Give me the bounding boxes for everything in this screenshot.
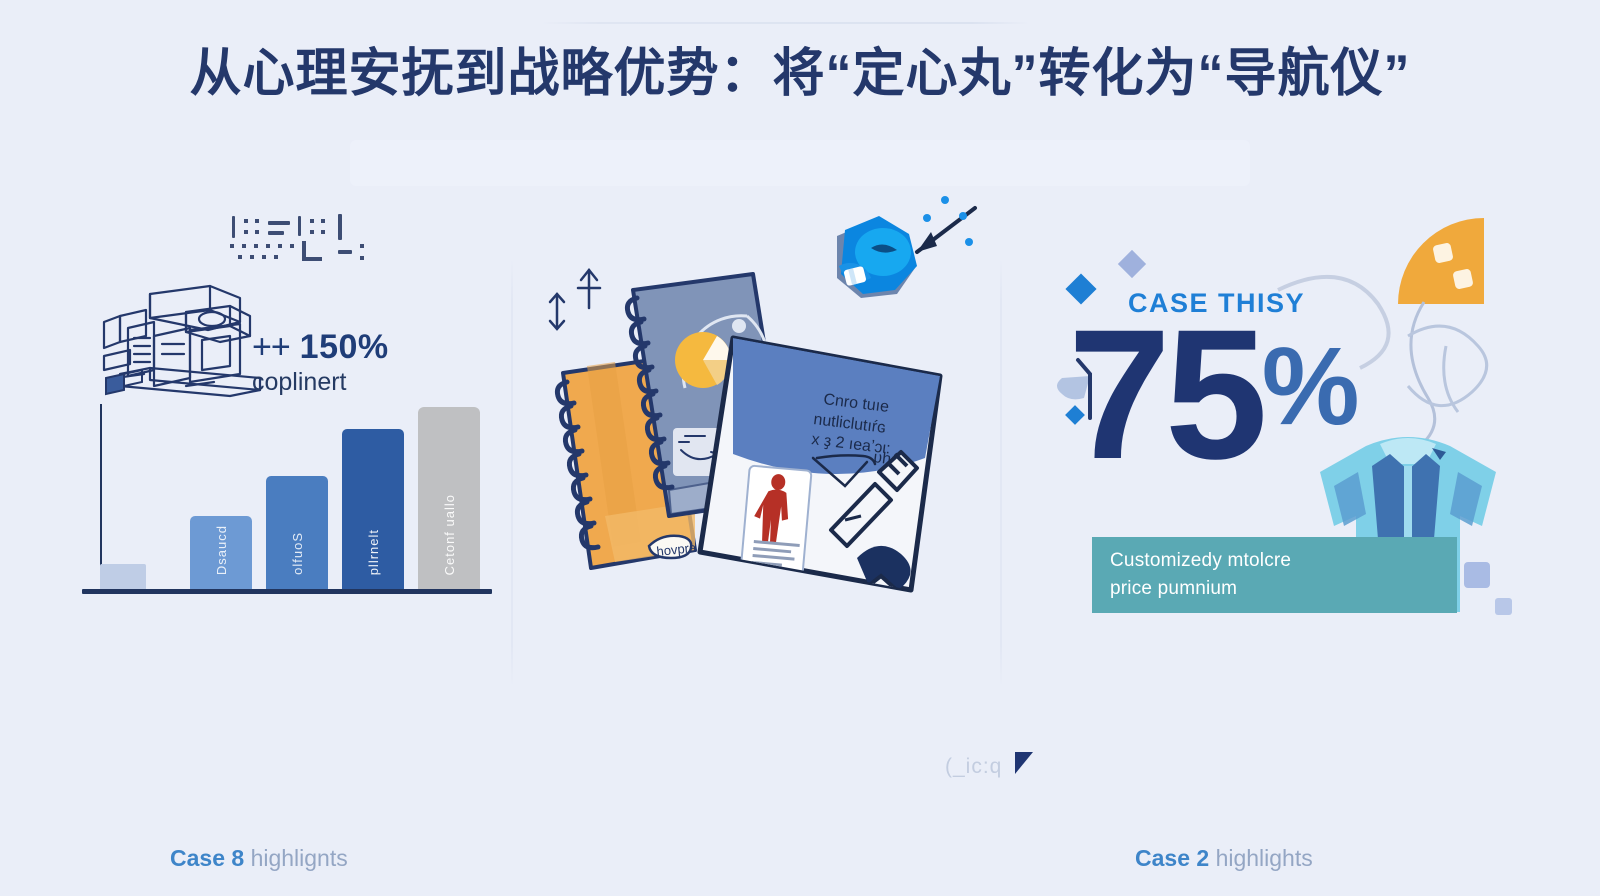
svg-text:hovpra: hovpra	[656, 540, 698, 559]
column-case-2: hovpra	[545, 190, 995, 620]
decor-square-large	[1464, 562, 1490, 588]
caption-2-muted: highlights	[1216, 845, 1313, 871]
notebooks-documents-icon: hovpra	[545, 190, 995, 620]
top-hairline	[540, 22, 1030, 24]
case-1-stat-value: ++ 150%	[252, 330, 442, 364]
chart-bar-1	[100, 564, 146, 589]
case-3-banner: Customizedy mtolcre price pumnium	[1092, 537, 1457, 613]
caption-case-2: Case 2 highlights Japanese stationery or…	[1135, 845, 1555, 896]
chart-bar-2: Dsaucd	[190, 516, 252, 589]
caption-1-muted: highlignts	[251, 845, 348, 871]
stat-prefix: ++	[252, 328, 290, 366]
case-1-stat-sublabel: coplinert	[252, 370, 442, 395]
stat-number: 150%	[300, 328, 389, 366]
case-1-illustration: ++ 150% coplinert DsaucdolfuoSpllrneltCe…	[60, 190, 500, 620]
caption-1-strong: Case 8	[170, 845, 244, 871]
caption-2-heading: Case 2 highlights	[1135, 845, 1555, 873]
caption-2-strong: Case 2	[1135, 845, 1209, 871]
caption-2-body: Japanese stationery oripledden noteomer …	[1135, 891, 1555, 896]
case-2-illustration: hovpra	[545, 190, 995, 620]
column-case-1: ++ 150% coplinert DsaucdolfuoSpllrneltCe…	[60, 190, 500, 620]
column-case-3: CASE THISY 75% Customizedy mtolcre price…	[1040, 190, 1540, 620]
chart-bar-label-3: olfuoS	[290, 532, 305, 575]
ghost-artifact-text: (_ic:q	[945, 755, 1002, 779]
chart-x-axis	[82, 589, 492, 594]
chart-y-axis	[100, 404, 102, 590]
chart-bar-4: pllrnelt	[342, 429, 404, 589]
title-underlay-band	[350, 140, 1250, 186]
case-3-illustration: CASE THISY 75% Customizedy mtolcre price…	[1040, 190, 1540, 620]
caption-case-1: Case 8 highlignts German industrial equi…	[170, 845, 590, 896]
infographic-page: 从心理安抚到战略优势：将“定心丸”转化为“导航仪”	[0, 0, 1600, 896]
decor-square-small	[1495, 598, 1512, 615]
chart-bar-label-2: Dsaucd	[214, 525, 229, 575]
chart-bar-5: Cetonf uallo	[418, 407, 480, 589]
chart-bar-3: olfuoS	[266, 476, 328, 589]
page-title: 从心理安抚到战略优势：将“定心丸”转化为“导航仪”	[0, 46, 1600, 103]
caption-1-body: German industrial equipment's himel incr…	[170, 891, 590, 896]
case-1-stat: ++ 150% coplinert	[252, 330, 442, 395]
big-stat-number: 75	[1068, 292, 1262, 498]
dotted-pattern-icon	[228, 210, 388, 266]
banner-line-2: price pumnium	[1110, 575, 1291, 603]
chart-bar-label-5: Cetonf uallo	[442, 494, 457, 575]
column-divider-1	[511, 258, 513, 688]
case-3-banner-text: Customizedy mtolcre price pumnium	[1092, 547, 1291, 602]
column-divider-2	[1000, 258, 1002, 688]
caption-1-heading: Case 8 highlignts	[170, 845, 590, 873]
banner-line-1: Customizedy mtolcre	[1110, 547, 1291, 575]
cursor-triangle-icon	[1015, 752, 1033, 774]
bar-chart: DsaucdolfuoSpllrneltCetonf uallo	[78, 398, 498, 598]
chart-bar-label-4: pllrnelt	[366, 529, 381, 575]
